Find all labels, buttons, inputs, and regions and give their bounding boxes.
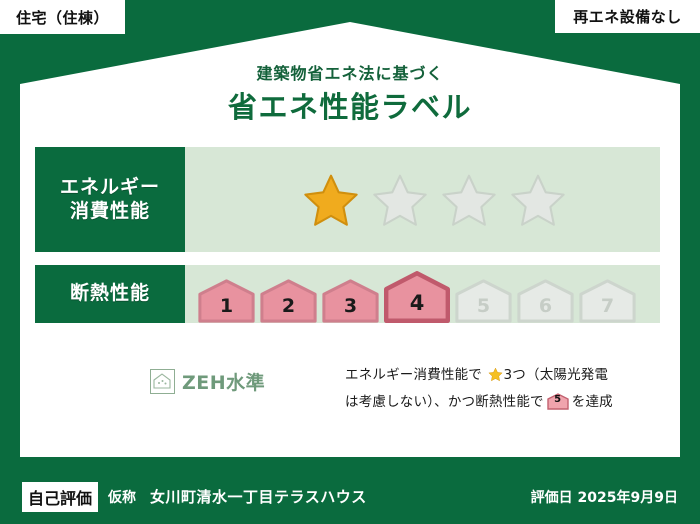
- label-root: 住宅（住棟） 再エネ設備なし 建築物省エネ法に基づく 省エネ性能ラベル エネルギ…: [0, 0, 700, 524]
- building-name-prefix: 仮称: [108, 487, 136, 507]
- energy-performance-row: エネルギー 消費性能: [35, 147, 660, 252]
- insulation-performance-label: 断熱性能: [35, 265, 185, 323]
- evaluation-date: 評価日 2025年9月9日: [531, 487, 678, 507]
- insulation-level-7: 7: [579, 279, 636, 323]
- insulation-performance-row: 断熱性能 1234567: [35, 265, 660, 323]
- insulation-performance-body: 1234567: [185, 265, 660, 323]
- zeh-description: エネルギー消費性能で 3つ（太陽光発電 は考慮しない）、かつ断熱性能で 5 を達…: [345, 362, 660, 414]
- zeh-logo: ZEH水準: [35, 362, 345, 395]
- evaluation-date-label: 評価日: [531, 490, 573, 506]
- insulation-level-value: 6: [539, 295, 552, 323]
- energy-label-line1: エネルギー: [60, 176, 160, 200]
- assessment-type-badge: 自己評価: [22, 482, 98, 512]
- zeh-house-icon: [150, 369, 175, 394]
- star-filled-icon: [302, 172, 360, 228]
- evaluation-date-value: 2025年9月9日: [578, 490, 678, 506]
- insulation-level-value: 2: [282, 295, 295, 323]
- inline-insulation-badge-value: 5: [547, 391, 569, 409]
- label-subtitle: 建築物省エネ法に基づく: [0, 60, 700, 84]
- star-empty-icon: [440, 172, 498, 228]
- energy-label-line2: 消費性能: [70, 200, 150, 224]
- building-name: 女川町清水一丁目テラスハウス: [150, 486, 367, 507]
- insulation-level-2: 2: [260, 279, 317, 323]
- insulation-level-4: 4: [384, 271, 450, 323]
- insulation-level-value: 4: [410, 291, 425, 323]
- star-empty-icon: [371, 172, 429, 228]
- zeh-desc-stars: 3つ（太陽光発電: [504, 367, 609, 383]
- page-title: 省エネ性能ラベル: [0, 84, 700, 126]
- insulation-level-3: 3: [322, 279, 379, 323]
- zeh-label: ZEH水準: [182, 368, 265, 395]
- footer-bar: 自己評価 仮称 女川町清水一丁目テラスハウス 評価日 2025年9月9日: [0, 469, 700, 524]
- star-empty-icon: [509, 172, 567, 228]
- insulation-level-1: 1: [198, 279, 255, 323]
- insulation-level-value: 3: [344, 295, 357, 323]
- insulation-level-6: 6: [517, 279, 574, 323]
- zeh-desc-part3: を達成: [572, 394, 613, 410]
- energy-performance-body: [185, 147, 660, 252]
- zeh-desc-part2: は考慮しない）、かつ断熱性能で: [345, 394, 544, 410]
- insulation-level-value: 5: [477, 295, 490, 323]
- renewable-energy-tag: 再エネ設備なし: [555, 0, 700, 33]
- building-type-tag: 住宅（住棟）: [0, 0, 125, 34]
- insulation-level-scale: 1234567: [185, 265, 636, 323]
- inline-star-icon: [488, 367, 503, 391]
- insulation-level-value: 7: [601, 295, 614, 323]
- zeh-standard-row: ZEH水準 エネルギー消費性能で 3つ（太陽光発電 は考慮しない）、かつ断熱性能…: [35, 362, 660, 414]
- inline-insulation-badge: 5: [547, 393, 569, 410]
- energy-performance-label: エネルギー 消費性能: [35, 147, 185, 252]
- insulation-level-5: 5: [455, 279, 512, 323]
- star-rating: [185, 172, 567, 228]
- zeh-desc-part1: エネルギー消費性能で: [345, 367, 482, 383]
- insulation-level-value: 1: [220, 295, 233, 323]
